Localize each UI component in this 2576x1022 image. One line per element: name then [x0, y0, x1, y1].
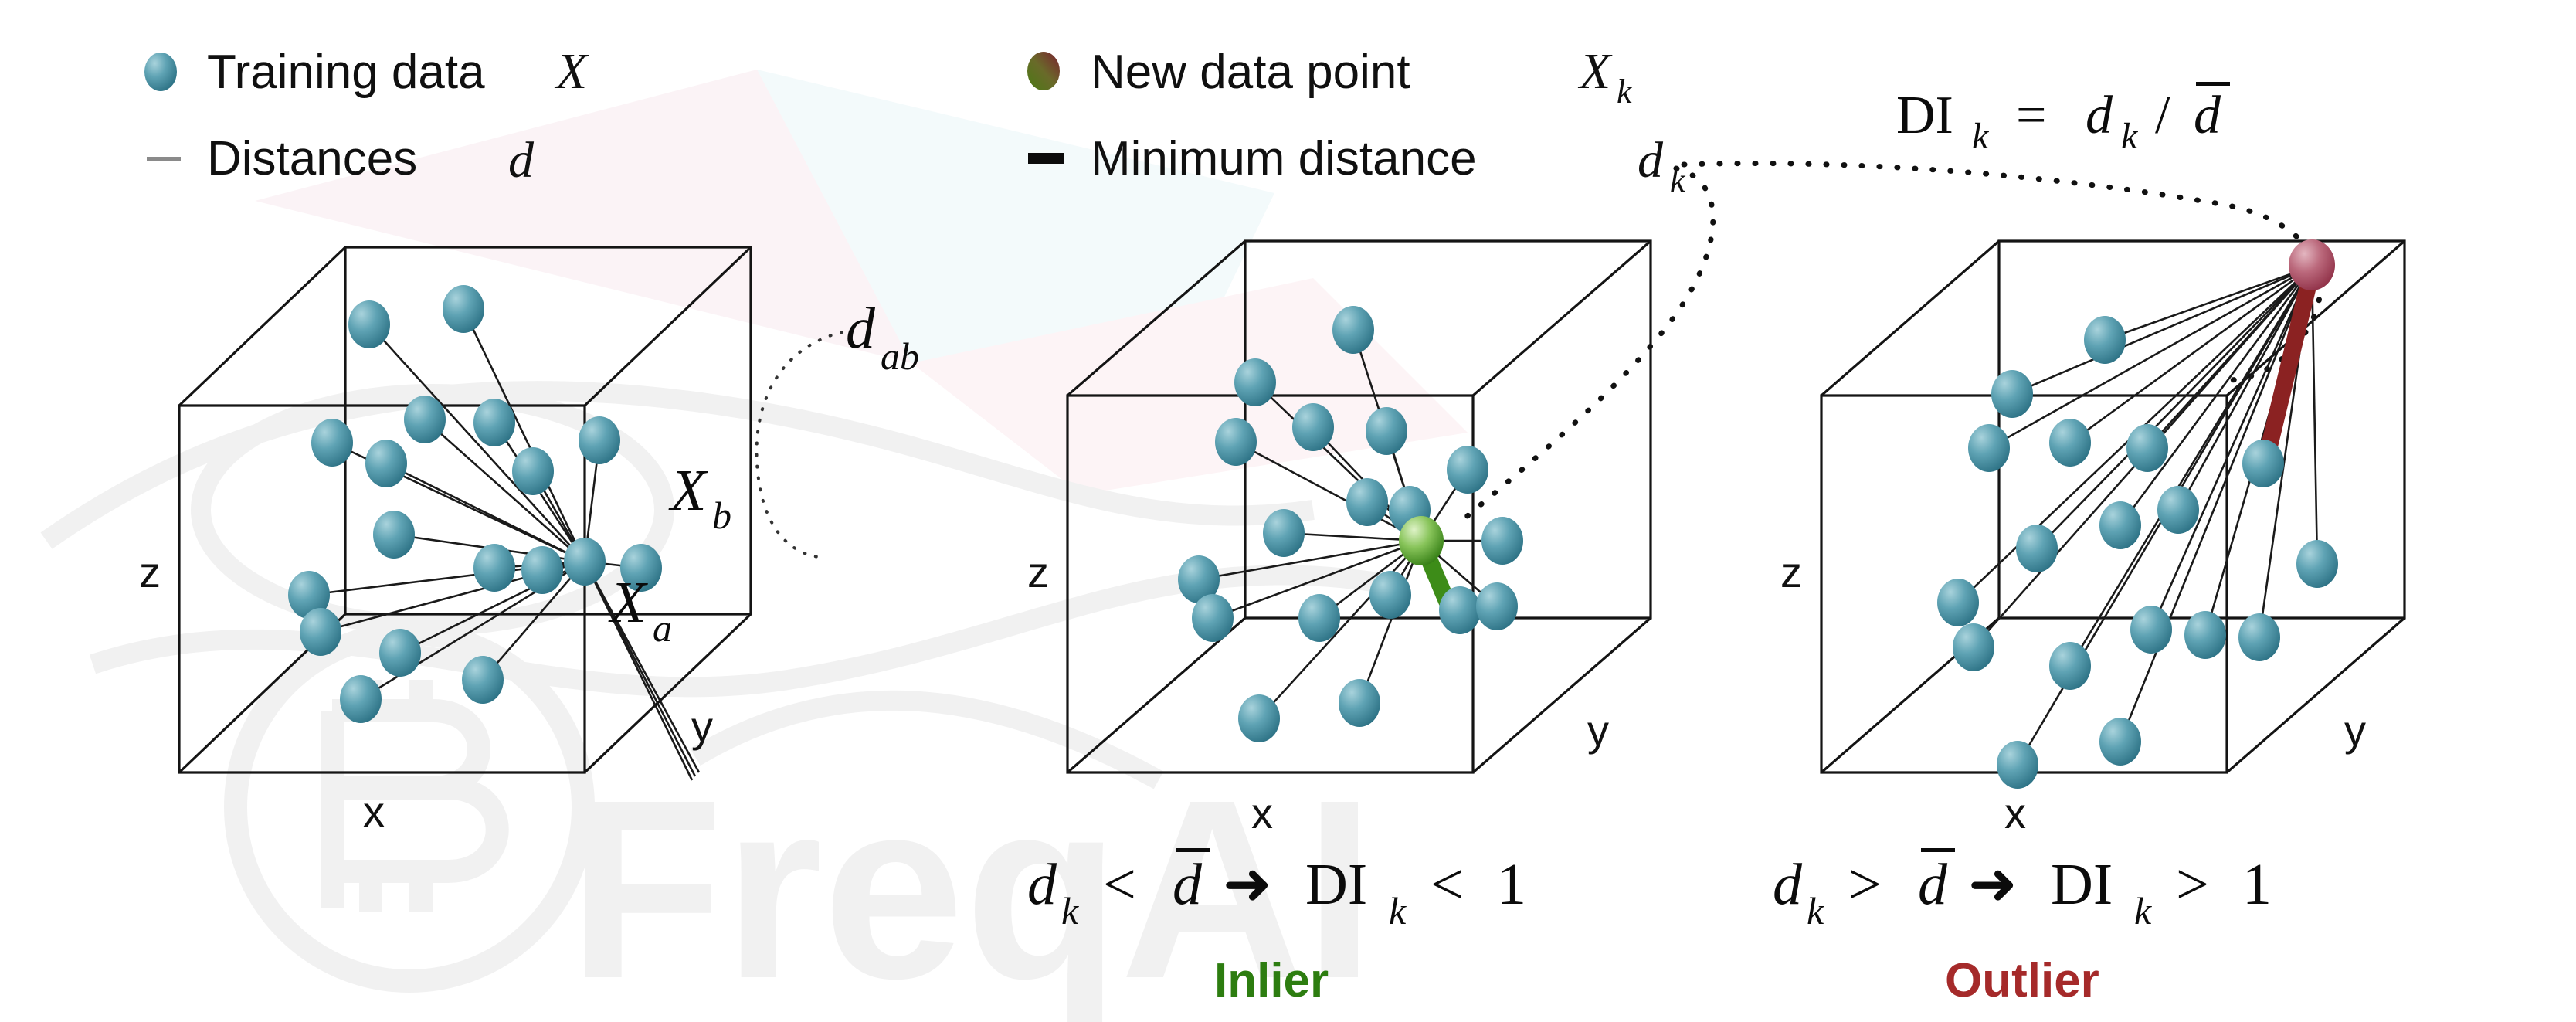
- data-point: [1192, 594, 1234, 642]
- label-Xb: X: [668, 458, 708, 523]
- label-dab: d: [846, 296, 876, 361]
- axis-label-y-1: y: [691, 702, 713, 751]
- data-point: [300, 608, 341, 656]
- cap2-rel2: <: [1431, 852, 1464, 917]
- cap3-rel1: >: [1848, 852, 1882, 917]
- data-point: [1332, 306, 1374, 354]
- formula-numerator-sub: k: [2121, 116, 2139, 157]
- data-point: [340, 675, 382, 723]
- black-dash-icon: [1028, 153, 1064, 164]
- legend-symbol-Xk-sub: k: [1617, 73, 1633, 110]
- formula-lhs-sub: k: [1972, 116, 1990, 157]
- cap3-value: 1: [2242, 852, 2272, 917]
- legend-label-min-distance: Minimum distance: [1091, 132, 1477, 185]
- data-point: [512, 447, 554, 495]
- cap3-arrow: ➜: [1968, 852, 2018, 917]
- data-point: [1968, 424, 2010, 472]
- axis-label-z-1: z: [139, 548, 161, 596]
- data-point: [2238, 613, 2280, 661]
- data-point: [443, 285, 484, 333]
- data-point: [1263, 509, 1305, 557]
- legend-item-training-data: Training data X: [144, 43, 589, 100]
- leader-dk-inlier: [1464, 168, 1713, 519]
- data-point: [1292, 403, 1334, 451]
- data-point: [2184, 611, 2226, 659]
- formula-equals: =: [2016, 86, 2046, 145]
- teal-dot-icon: [144, 53, 177, 91]
- new-data-point-outlier: [2289, 239, 2335, 290]
- label-dab-sub: ab: [881, 334, 919, 378]
- formula-lhs: DI: [1896, 86, 1953, 145]
- cap3-dbar-overline: [1921, 848, 1955, 852]
- data-point: [2130, 606, 2172, 654]
- data-point: [1369, 571, 1411, 619]
- data-point: [1234, 358, 1276, 406]
- cap3-dk-sub: k: [1807, 889, 1824, 932]
- data-point: [1298, 594, 1340, 642]
- cap3-dk: d: [1773, 852, 1803, 917]
- legend-label-distances: Distances: [207, 132, 417, 185]
- data-point: [1215, 418, 1257, 466]
- data-point: [379, 629, 421, 677]
- data-point: [2016, 525, 2058, 572]
- axis-label-x-2: x: [1251, 789, 1273, 837]
- cap2-dk: d: [1027, 852, 1057, 917]
- cap2-dk-sub: k: [1061, 889, 1079, 932]
- cap2-dbar: d: [1173, 852, 1203, 917]
- data-point: [1481, 517, 1523, 565]
- data-point: [579, 416, 620, 464]
- data-point-nearest: [1439, 586, 1481, 634]
- legend-symbol-Xk: X: [1577, 43, 1613, 100]
- data-point: [2049, 642, 2091, 690]
- data-point: [1447, 446, 1488, 494]
- data-point: [2099, 501, 2141, 549]
- data-point-nearest: [2242, 440, 2284, 487]
- diagram-canvas: FreqAI Training data X Distances d New d…: [0, 0, 2576, 1022]
- legend-label-training: Training data: [207, 46, 485, 99]
- cap2-rel1: <: [1103, 852, 1136, 917]
- data-point: [2084, 316, 2126, 364]
- cap2-DI: DI: [1305, 852, 1367, 917]
- gray-dash-icon: [147, 157, 181, 161]
- axis-label-z-2: z: [1027, 548, 1049, 596]
- cap3-DI-sub: k: [2134, 889, 2152, 932]
- data-point: [2296, 540, 2338, 588]
- data-point: [404, 396, 446, 443]
- data-point: [2049, 419, 2091, 467]
- formula-slash: /: [2155, 86, 2170, 145]
- formula-denominator: d: [2194, 86, 2221, 145]
- data-point: [473, 399, 515, 446]
- diagram-svg: FreqAI Training data X Distances d New d…: [0, 0, 2576, 1022]
- data-point: [1339, 679, 1380, 727]
- data-point: [2099, 718, 2141, 766]
- data-point: [2126, 424, 2168, 472]
- axis-label-x-1: x: [363, 787, 385, 836]
- data-point: [1991, 370, 2033, 418]
- data-point: [365, 440, 407, 487]
- data-point-xa: [564, 538, 606, 586]
- legend-symbol-dk: d: [1638, 132, 1664, 188]
- legend-item-new-data-point: New data point X k: [1027, 43, 1633, 110]
- cap2-value: 1: [1497, 852, 1526, 917]
- legend-symbol-d: d: [508, 132, 535, 188]
- axis-label-z-3: z: [1780, 548, 1802, 596]
- data-point: [311, 419, 353, 467]
- data-point: [373, 511, 415, 559]
- verdict-inlier: Inlier: [1214, 954, 1329, 1007]
- data-point: [462, 656, 504, 704]
- label-Xa-sub: a: [653, 606, 672, 650]
- formula-di: DI k = d k / d: [1896, 82, 2230, 157]
- data-point: [1238, 694, 1280, 742]
- data-point: [1476, 582, 1518, 630]
- caption-outlier: d k > d ➜ DI k > 1 Outlier: [1773, 848, 2272, 1007]
- verdict-outlier: Outlier: [1945, 954, 2099, 1007]
- data-point: [1366, 407, 1407, 455]
- cap3-dbar: d: [1918, 852, 1948, 917]
- cap2-dbar-overline: [1176, 848, 1210, 852]
- panel-outlier: z x y: [1780, 239, 2405, 837]
- data-point: [473, 544, 515, 592]
- data-point: [1953, 623, 1994, 671]
- data-point: [1937, 579, 1979, 626]
- label-Xa: X: [608, 570, 648, 635]
- axis-label-y-3: y: [2344, 706, 2366, 755]
- new-data-point-inlier: [1399, 516, 1444, 565]
- formula-numerator: d: [2086, 86, 2113, 145]
- cap3-rel2: >: [2176, 852, 2209, 917]
- bicolor-dot-icon: [1027, 52, 1060, 90]
- data-point: [2157, 486, 2199, 534]
- cap2-DI-sub: k: [1389, 889, 1407, 932]
- leader-dab: [757, 332, 842, 558]
- axis-label-x-3: x: [2004, 789, 2026, 837]
- data-point: [1997, 741, 2038, 789]
- legend-label-new-point: New data point: [1091, 46, 1410, 99]
- legend-symbol-X: X: [554, 43, 589, 100]
- data-point: [1346, 478, 1388, 526]
- label-Xb-sub: b: [712, 494, 731, 537]
- cap3-DI: DI: [2051, 852, 2113, 917]
- axis-label-y-2: y: [1587, 706, 1609, 755]
- formula-denominator-bar: [2196, 82, 2230, 86]
- cap2-arrow: ➜: [1223, 852, 1272, 917]
- data-point: [348, 300, 390, 348]
- data-point: [521, 546, 563, 594]
